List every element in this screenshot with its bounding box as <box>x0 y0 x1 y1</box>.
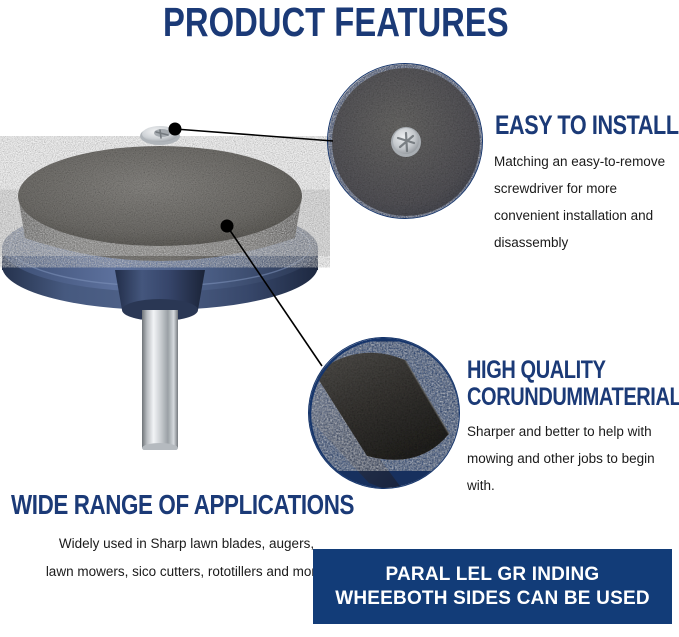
product-image <box>0 88 330 450</box>
bottom-banner-text: PARAL LEL GR INDING WHEEBOTH SIDES CAN B… <box>335 563 650 609</box>
feature-heading-easy-to-install: EASY TO INSTALL <box>495 112 679 139</box>
screw-head-closeup-callout <box>327 63 483 219</box>
page-title: PRODUCT FEATURES <box>163 2 509 43</box>
feature-body-easy-to-install: Matching an easy-to-remove screwdriver f… <box>494 148 679 256</box>
feature-heading-wide-range: WIDE RANGE OF APPLICATIONS <box>11 491 354 519</box>
feature-body-high-quality: Sharper and better to help with mowing a… <box>467 418 667 499</box>
product-features-infographic: PRODUCT FEATURES <box>0 0 679 637</box>
feature-body-wide-range: Widely used in Sharp lawn blades, augers… <box>44 530 329 585</box>
feature-heading-high-quality: HIGH QUALITY CORUNDUMMATERIALS <box>467 357 679 411</box>
bottom-banner: PARAL LEL GR INDING WHEEBOTH SIDES CAN B… <box>313 549 672 624</box>
corundum-edge-closeup-callout <box>308 337 460 489</box>
